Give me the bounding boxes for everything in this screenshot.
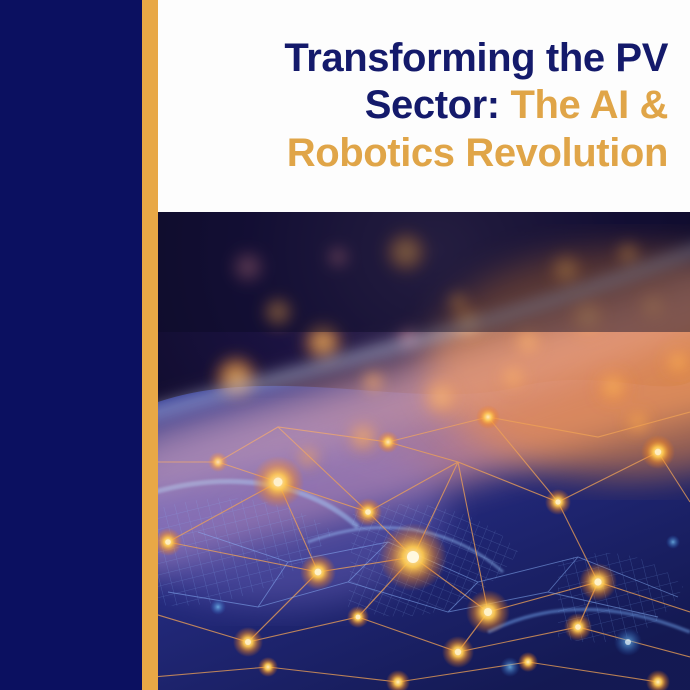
title-line-1: Transforming the PV xyxy=(284,36,668,80)
title-banner: Transforming the PV Sector: The AI & Rob… xyxy=(158,0,690,212)
hero-image-graphic xyxy=(158,212,690,690)
title-line-2-accent: The AI & xyxy=(510,83,668,127)
page-title: Transforming the PV Sector: The AI & Rob… xyxy=(284,35,668,177)
title-line-2-primary: Sector: xyxy=(365,83,500,127)
gold-accent-stripe xyxy=(142,0,158,690)
market-insights-card: B BECQUEREL INSTITUTE MARKET INSIGHTS Tr… xyxy=(0,0,690,690)
left-sidebar-panel xyxy=(0,0,142,690)
hero-image xyxy=(158,212,690,690)
title-line-3-accent: Robotics Revolution xyxy=(287,131,668,175)
